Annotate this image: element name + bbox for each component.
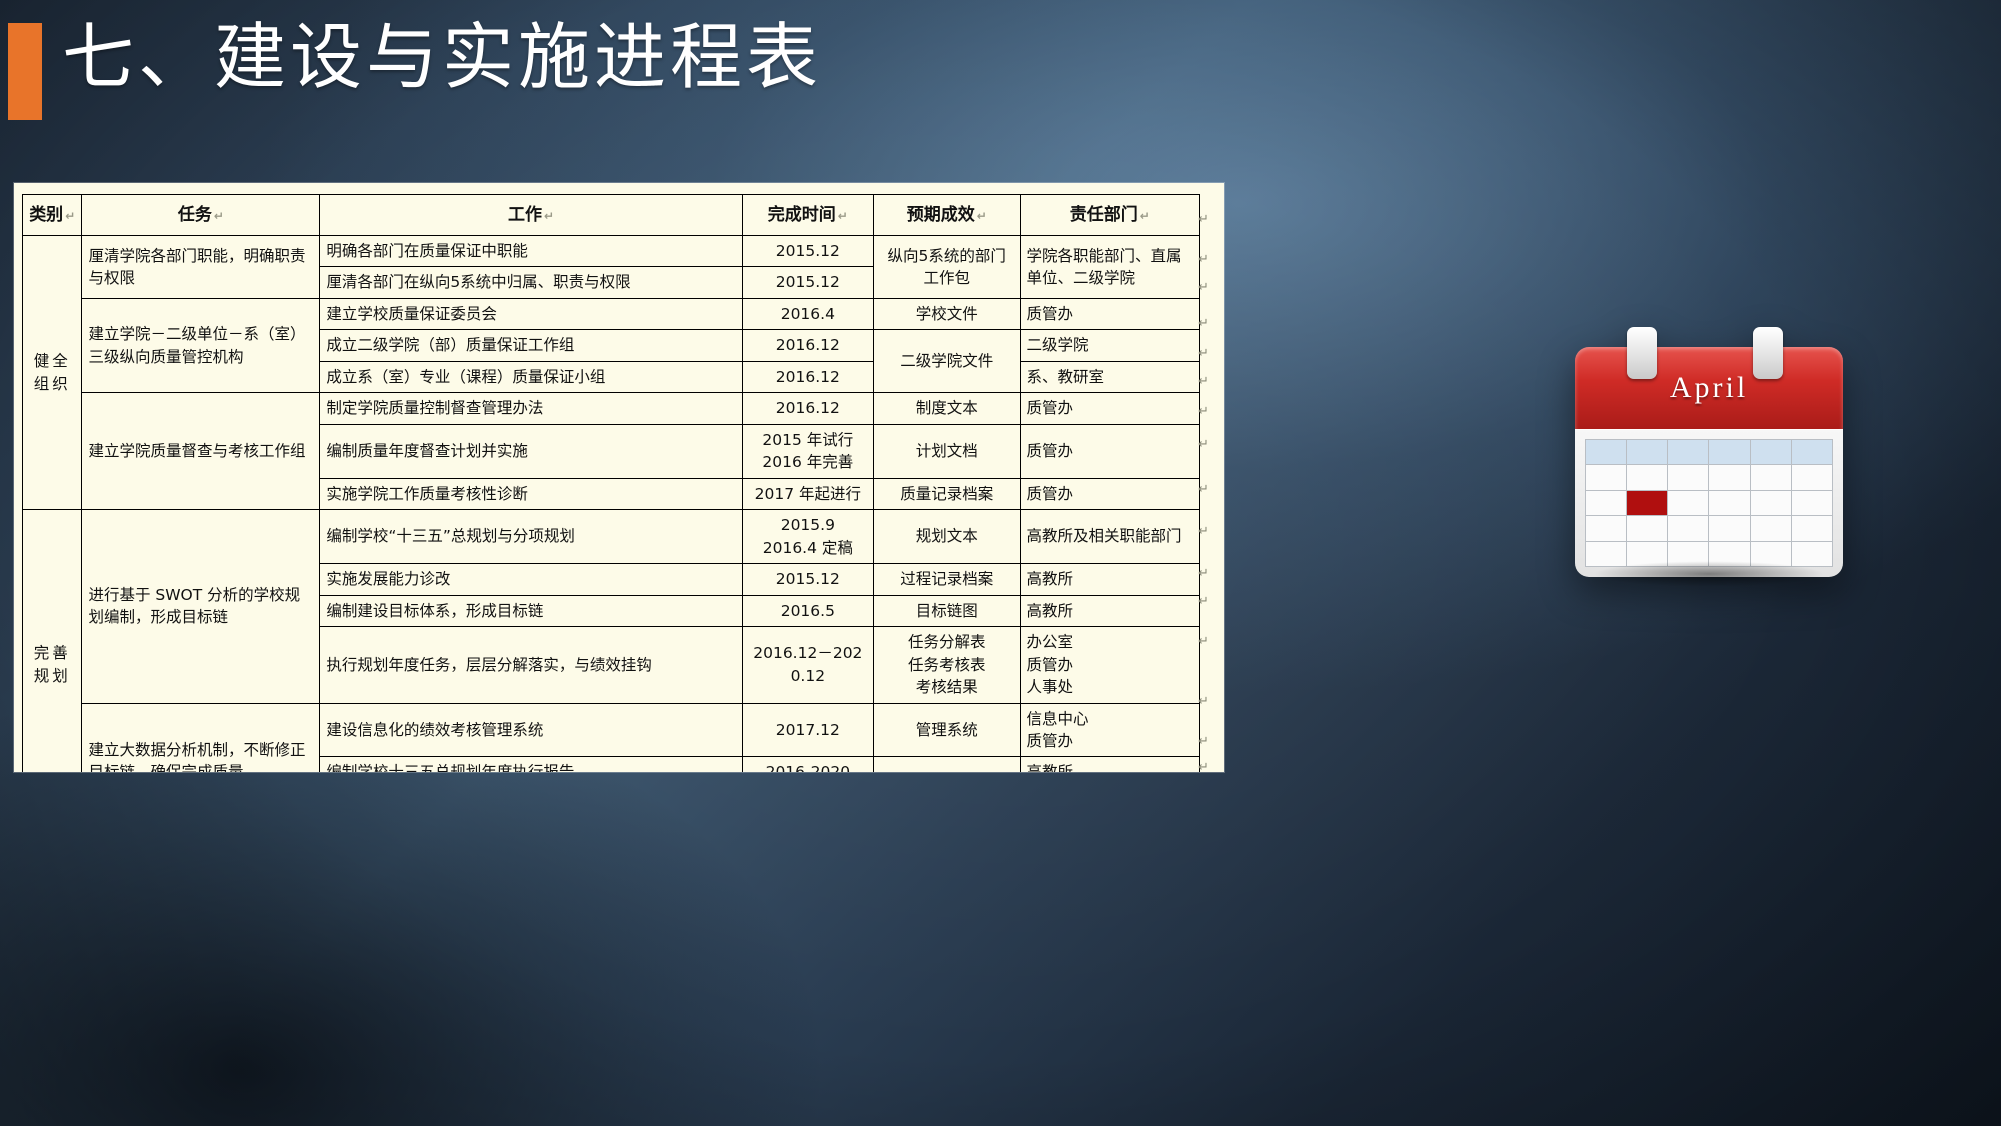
cell-task: 厘清学院各部门职能，明确职责与权限 xyxy=(82,236,320,299)
cell-dept: 系、教研室 xyxy=(1020,361,1199,392)
table-row: 建立学院质量督查与考核工作组 制定学院质量控制督查管理办法 2016.12 制度… xyxy=(23,393,1200,424)
cell-work: 执行规划年度任务，层层分解落实，与绩效挂钩 xyxy=(320,627,742,703)
cell-effect: 质量记录档案 xyxy=(873,478,1020,509)
cell-effect: 过程记录档案 xyxy=(873,564,1020,595)
calendar-icon: April xyxy=(1575,325,1843,585)
cell-time: 2017.12 xyxy=(742,703,873,757)
cell-dept: 高教所 xyxy=(1020,757,1199,772)
calendar-ring-left xyxy=(1627,327,1657,379)
column-header-dept: 责任部门↵ xyxy=(1020,195,1199,236)
table-row: 健全组织 厘清学院各部门职能，明确职责与权限 明确各部门在质量保证中职能 201… xyxy=(23,236,1200,267)
cell-dept: 质管办 xyxy=(1020,298,1199,329)
calendar-week-row xyxy=(1586,516,1833,541)
column-header-task: 任务↵ xyxy=(82,195,320,236)
cell-dept: 高教所及相关职能部门 xyxy=(1020,510,1199,564)
title-accent-bar xyxy=(8,23,42,120)
cell-time: 2016.12 xyxy=(742,330,873,361)
cell-dept: 高教所 xyxy=(1020,595,1199,626)
cell-work: 明确各部门在质量保证中职能 xyxy=(320,236,742,267)
pilcrow-icon: ↵ xyxy=(214,209,224,223)
cell-dept: 质管办 xyxy=(1020,424,1199,478)
cell-work: 编制学校十三五总规划年度执行报告 xyxy=(320,757,742,772)
cell-work: 制定学院质量控制督查管理办法 xyxy=(320,393,742,424)
cell-dept: 学院各职能部门、直属单位、二级学院 xyxy=(1020,236,1199,299)
cell-time: 2016-2020 xyxy=(742,757,873,772)
cell-dept: 信息中心 质管办 xyxy=(1020,703,1199,757)
presentation-slide: 七、建设与实施进程表 类别↵ 任务↵ 工作↵ 完成时间↵ 预期成效↵ 责任部门↵ xyxy=(0,0,2001,1126)
column-header-work: 工作↵ xyxy=(320,195,742,236)
column-header-category: 类别↵ xyxy=(23,195,82,236)
table-header-row: 类别↵ 任务↵ 工作↵ 完成时间↵ 预期成效↵ 责任部门↵ xyxy=(23,195,1200,236)
table-row: 建立学院－二级单位－系（室）三级纵向质量管控机构 建立学校质量保证委员会 201… xyxy=(23,298,1200,329)
pilcrow-icon: ↵ xyxy=(1140,209,1150,223)
cell-category: 健全组织 xyxy=(23,236,82,510)
cell-work: 成立二级学院（部）质量保证工作组 xyxy=(320,330,742,361)
calendar-week-row xyxy=(1586,490,1833,515)
cell-work: 建设信息化的绩效考核管理系统 xyxy=(320,703,742,757)
cell-effect: 执行报告文本 xyxy=(873,757,1020,772)
cell-task: 建立学院－二级单位－系（室）三级纵向质量管控机构 xyxy=(82,298,320,392)
calendar-shadow xyxy=(1593,561,1825,587)
pilcrow-icon: ↵ xyxy=(65,209,75,223)
calendar-week-header xyxy=(1586,440,1833,465)
cell-category: 完善规划 xyxy=(23,510,82,772)
schedule-table-sheet: 类别↵ 任务↵ 工作↵ 完成时间↵ 预期成效↵ 责任部门↵ 健全组织 厘清学院各… xyxy=(14,183,1224,772)
cell-time: 2016.4 xyxy=(742,298,873,329)
column-header-effect: 预期成效↵ xyxy=(873,195,1020,236)
table-row: 建立大数据分析机制，不断修正目标链，确保完成质量 建设信息化的绩效考核管理系统 … xyxy=(23,703,1200,757)
cell-time: 2015.12 xyxy=(742,267,873,298)
cell-effect: 二级学院文件 xyxy=(873,330,1020,393)
slide-title: 七、建设与实施进程表 xyxy=(62,14,822,100)
cell-dept: 二级学院 xyxy=(1020,330,1199,361)
cell-work: 编制学校“十三五”总规划与分项规划 xyxy=(320,510,742,564)
cell-work: 成立系（室）专业（课程）质量保证小组 xyxy=(320,361,742,392)
cell-work: 编制建设目标体系，形成目标链 xyxy=(320,595,742,626)
calendar-month-label: April xyxy=(1575,371,1843,405)
cell-effect: 纵向5系统的部门工作包 xyxy=(873,236,1020,299)
cell-effect: 任务分解表 任务考核表 考核结果 xyxy=(873,627,1020,703)
cell-work: 建立学校质量保证委员会 xyxy=(320,298,742,329)
cell-dept: 质管办 xyxy=(1020,393,1199,424)
cell-dept: 办公室 质管办 人事处 xyxy=(1020,627,1199,703)
cell-work: 实施发展能力诊改 xyxy=(320,564,742,595)
pilcrow-icon: ↵ xyxy=(838,209,848,223)
calendar-today-cell xyxy=(1627,490,1668,515)
cell-dept: 质管办 xyxy=(1020,478,1199,509)
cell-task: 建立学院质量督查与考核工作组 xyxy=(82,393,320,510)
cell-time: 2016.12 xyxy=(742,393,873,424)
table-row: 完善规划 进行基于 SWOT 分析的学校规划编制，形成目标链 编制学校“十三五”… xyxy=(23,510,1200,564)
calendar-week-row xyxy=(1586,465,1833,490)
pilcrow-icon: ↵ xyxy=(977,209,987,223)
cell-effect: 计划文档 xyxy=(873,424,1020,478)
cell-work: 实施学院工作质量考核性诊断 xyxy=(320,478,742,509)
cell-work: 编制质量年度督查计划并实施 xyxy=(320,424,742,478)
cell-effect: 目标链图 xyxy=(873,595,1020,626)
cell-time: 2016.5 xyxy=(742,595,873,626)
cell-effect: 规划文本 xyxy=(873,510,1020,564)
cell-time: 2017 年起进行 xyxy=(742,478,873,509)
cell-work: 厘清各部门在纵向5系统中归属、职责与权限 xyxy=(320,267,742,298)
cell-task: 建立大数据分析机制，不断修正目标链，确保完成质量 xyxy=(82,703,320,772)
calendar-grid xyxy=(1585,439,1833,567)
paragraph-mark-column: ↵ ↵ ↵ ↵ ↵ ↵ ↵ ↵ ↵ ↵ ↵ ↵ ↵ ↵ ↵ ↵ xyxy=(1198,194,1220,754)
cell-time: 2015.12 xyxy=(742,564,873,595)
cell-time: 2015.9 2016.4 定稿 xyxy=(742,510,873,564)
cell-time: 2015.12 xyxy=(742,236,873,267)
calendar-body xyxy=(1575,429,1843,577)
cell-time: 2015 年试行 2016 年完善 xyxy=(742,424,873,478)
cell-effect: 管理系统 xyxy=(873,703,1020,757)
cell-task: 进行基于 SWOT 分析的学校规划编制，形成目标链 xyxy=(82,510,320,703)
cell-time: 2016.12－2020.12 xyxy=(742,627,873,703)
cell-effect: 制度文本 xyxy=(873,393,1020,424)
cell-time: 2016.12 xyxy=(742,361,873,392)
cell-effect: 学校文件 xyxy=(873,298,1020,329)
calendar-ring-right xyxy=(1753,327,1783,379)
pilcrow-icon: ↵ xyxy=(544,209,554,223)
cell-dept: 高教所 xyxy=(1020,564,1199,595)
schedule-table: 类别↵ 任务↵ 工作↵ 完成时间↵ 预期成效↵ 责任部门↵ 健全组织 厘清学院各… xyxy=(22,194,1200,772)
column-header-time: 完成时间↵ xyxy=(742,195,873,236)
